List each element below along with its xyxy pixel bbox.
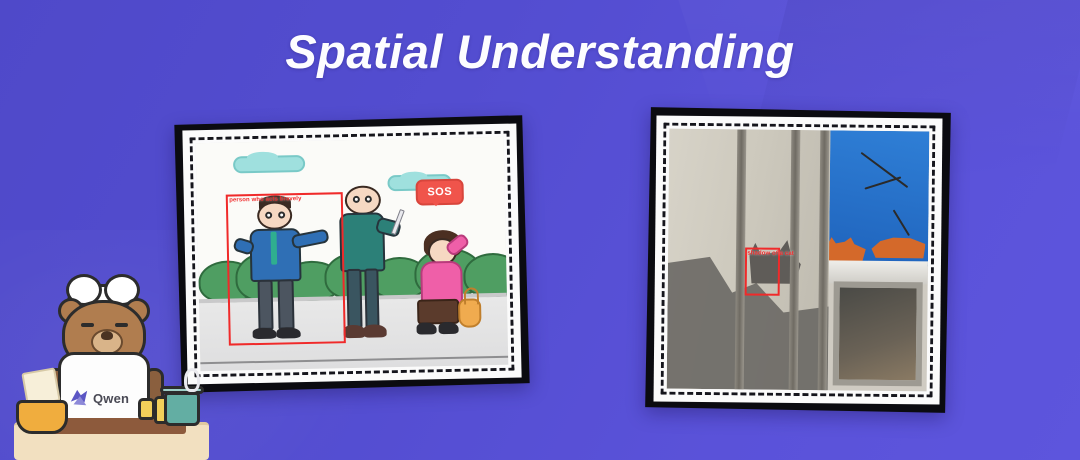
bottle-yellow-b bbox=[138, 398, 155, 420]
cooking-pot bbox=[164, 392, 200, 426]
head bbox=[345, 185, 381, 215]
cloud-left-icon bbox=[233, 155, 305, 174]
handbag bbox=[458, 298, 482, 328]
left-photo-frame: SOS bbox=[174, 115, 529, 393]
shoe bbox=[364, 324, 387, 337]
qwen-bear-mascot: Qwen bbox=[14, 290, 209, 460]
leg bbox=[364, 269, 380, 328]
whisk-icon bbox=[184, 368, 200, 392]
shoe bbox=[416, 322, 437, 335]
bear-eye-left bbox=[81, 323, 94, 327]
window-shadow-photo: shadow of a cat bbox=[667, 129, 930, 392]
left-photo-image: SOS bbox=[196, 137, 509, 371]
leg bbox=[347, 269, 363, 328]
sos-speech-bubble: SOS bbox=[415, 179, 464, 206]
right-photo-image: shadow of a cat bbox=[667, 129, 930, 392]
legs-crouched bbox=[417, 299, 460, 325]
person-victim-crouching bbox=[413, 233, 483, 339]
qwen-logo-icon bbox=[68, 388, 90, 408]
bear-nose bbox=[101, 331, 113, 340]
shoe bbox=[438, 322, 459, 335]
detection-box-person[interactable] bbox=[226, 193, 346, 346]
right-frame-paper: shadow of a cat bbox=[654, 116, 943, 405]
glass-reflection-pane bbox=[833, 281, 922, 386]
detection-label-shadow: shadow of a cat bbox=[747, 250, 794, 256]
bear-eye-right bbox=[115, 323, 128, 327]
right-photo-frame: shadow of a cat bbox=[645, 107, 951, 413]
cartoon-street-scene: SOS bbox=[196, 137, 509, 371]
mixing-bowl bbox=[16, 400, 68, 434]
qwen-logo-text: Qwen bbox=[93, 391, 129, 406]
shoe bbox=[343, 325, 366, 338]
page-title: Spatial Understanding bbox=[0, 24, 1080, 79]
left-frame-paper: SOS bbox=[182, 124, 521, 385]
